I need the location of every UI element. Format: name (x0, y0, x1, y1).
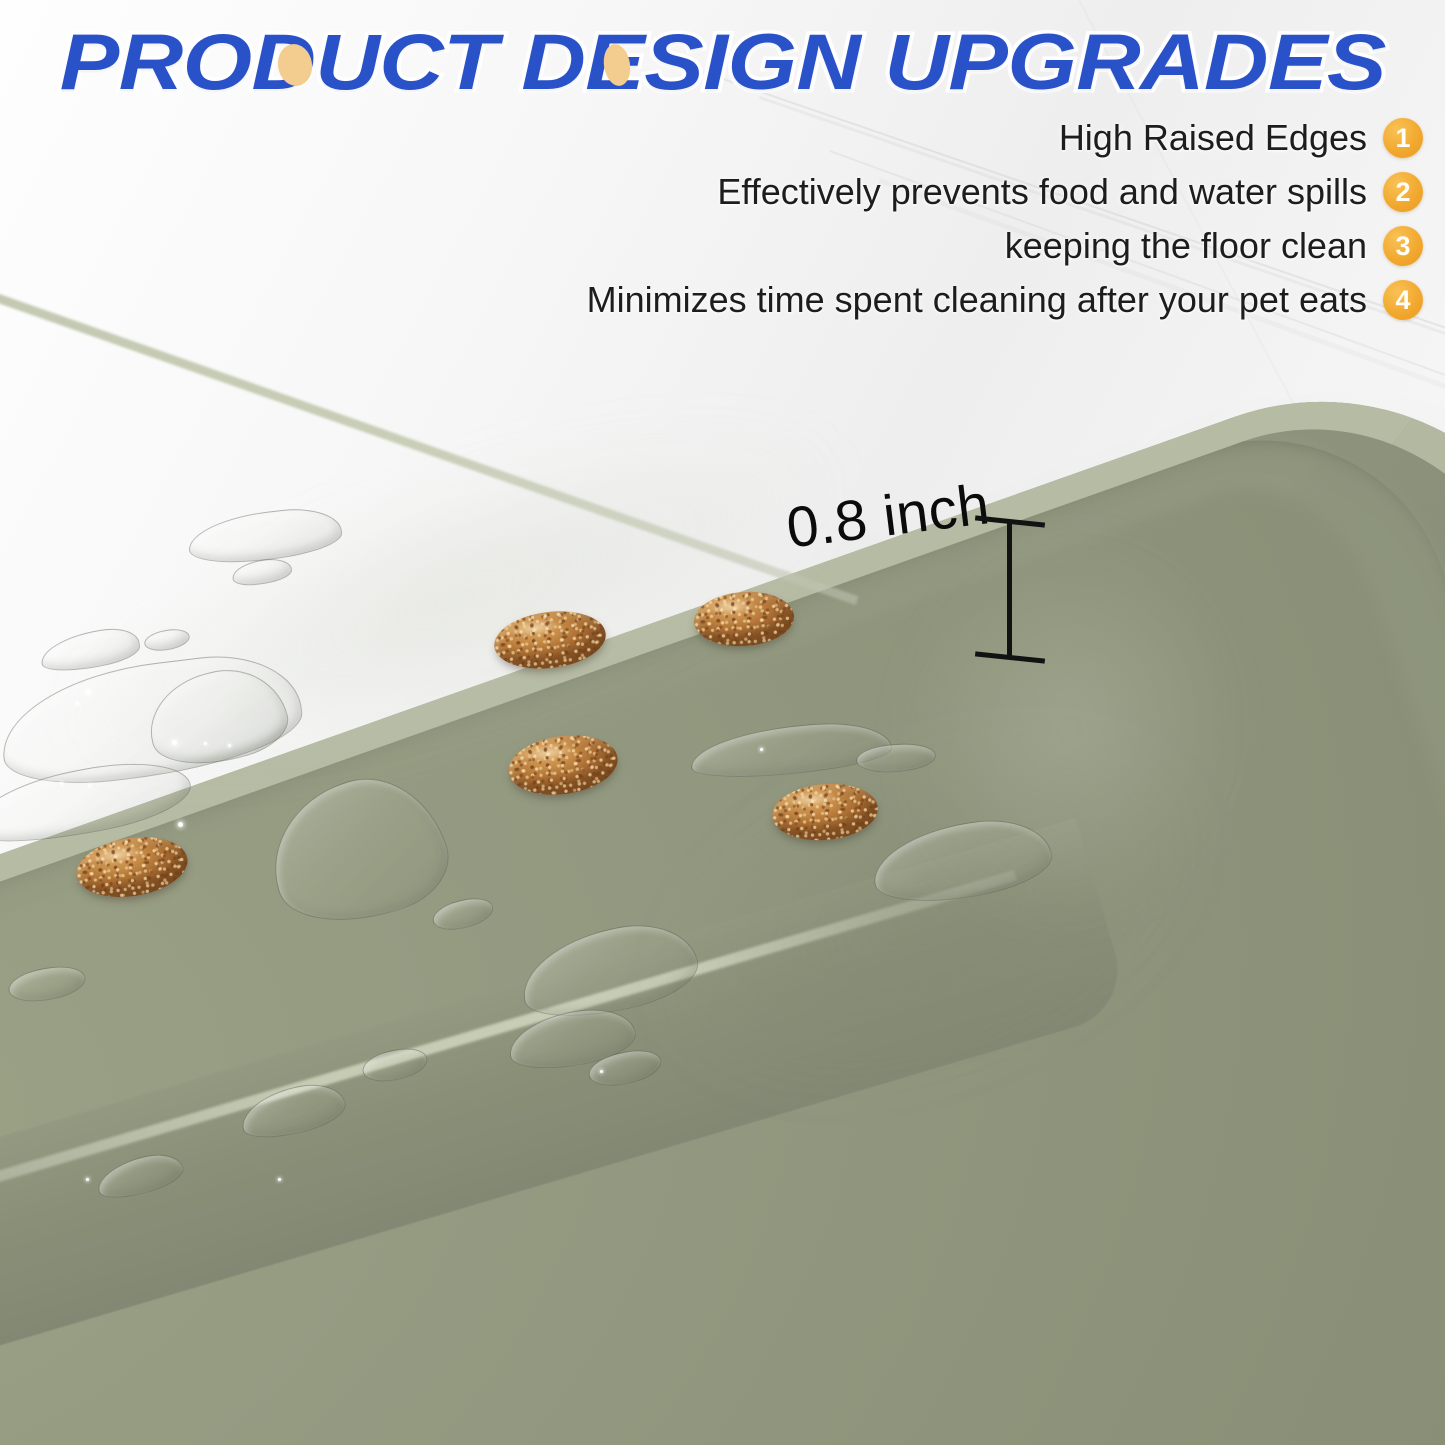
kibble-highlight (707, 597, 756, 616)
feature-item: Minimizes time spent cleaning after your… (503, 274, 1423, 326)
water-highlight (86, 690, 91, 695)
water-droplet (231, 556, 294, 588)
water-highlight (172, 740, 177, 745)
water-droplet (38, 624, 143, 677)
feature-number-badge: 3 (1383, 226, 1423, 266)
water-highlight (76, 702, 79, 705)
kibble-highlight (785, 789, 837, 810)
water-highlight (60, 782, 63, 785)
headline-banner: PRODUCT DESIGN UPGRADES (0, 16, 1445, 108)
water-droplet (143, 626, 192, 654)
feature-label: Effectively prevents food and water spil… (717, 171, 1367, 213)
mat-basin-surface (0, 388, 1445, 1445)
feature-number-badge: 1 (1383, 118, 1423, 158)
kibble-highlight (507, 616, 562, 639)
feature-number-badge: 4 (1383, 280, 1423, 320)
water-highlight (204, 742, 207, 745)
product-marketing-image: PRODUCT DESIGN UPGRADES High Raised Edge… (0, 0, 1445, 1445)
water-highlight (88, 784, 91, 787)
feature-label: High Raised Edges (1059, 117, 1367, 159)
headline-text: PRODUCT DESIGN UPGRADES (59, 16, 1385, 108)
feature-label: keeping the floor clean (1005, 225, 1367, 267)
water-highlight (228, 744, 231, 747)
feature-item: keeping the floor clean 3 (503, 220, 1423, 272)
feature-item: High Raised Edges 1 (503, 112, 1423, 164)
feature-number-badge: 2 (1383, 172, 1423, 212)
feature-item: Effectively prevents food and water spil… (503, 166, 1423, 218)
feature-list: High Raised Edges 1 Effectively prevents… (503, 112, 1423, 328)
feature-label: Minimizes time spent cleaning after your… (587, 279, 1367, 321)
water-droplet (186, 504, 344, 568)
